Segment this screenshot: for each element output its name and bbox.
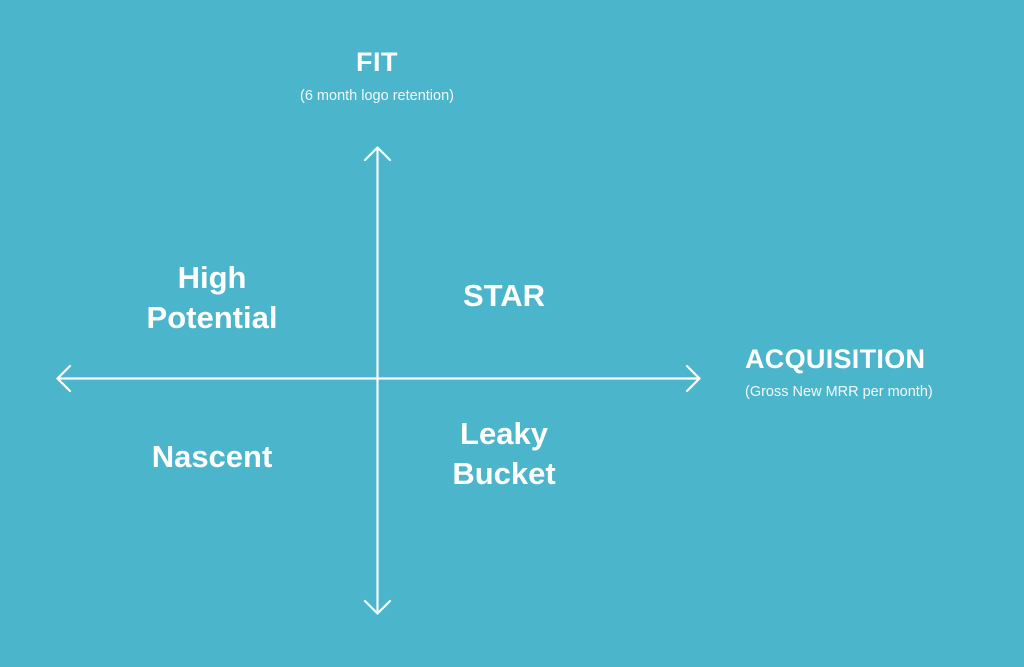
quadrant-diagram: FIT (6 month logo retention) ACQUISITION… [0, 0, 1024, 667]
quadrant-label-leaky-bucket: Leaky Bucket [404, 414, 604, 493]
vertical-axis-title-block: FIT (6 month logo retention) [177, 48, 577, 105]
quadrant-label-nascent: Nascent [100, 437, 324, 477]
vertical-axis-subtitle: (6 month logo retention) [177, 88, 577, 105]
vertical-axis-title: FIT [177, 48, 577, 78]
horizontal-axis-subtitle: (Gross New MRR per month) [745, 384, 1017, 401]
horizontal-axis-title-block: ACQUISITION (Gross New MRR per month) [745, 345, 1017, 401]
quadrant-label-high-potential: High Potential [100, 258, 324, 337]
quadrant-label-star: STAR [404, 276, 604, 316]
horizontal-axis-title: ACQUISITION [745, 345, 1017, 375]
